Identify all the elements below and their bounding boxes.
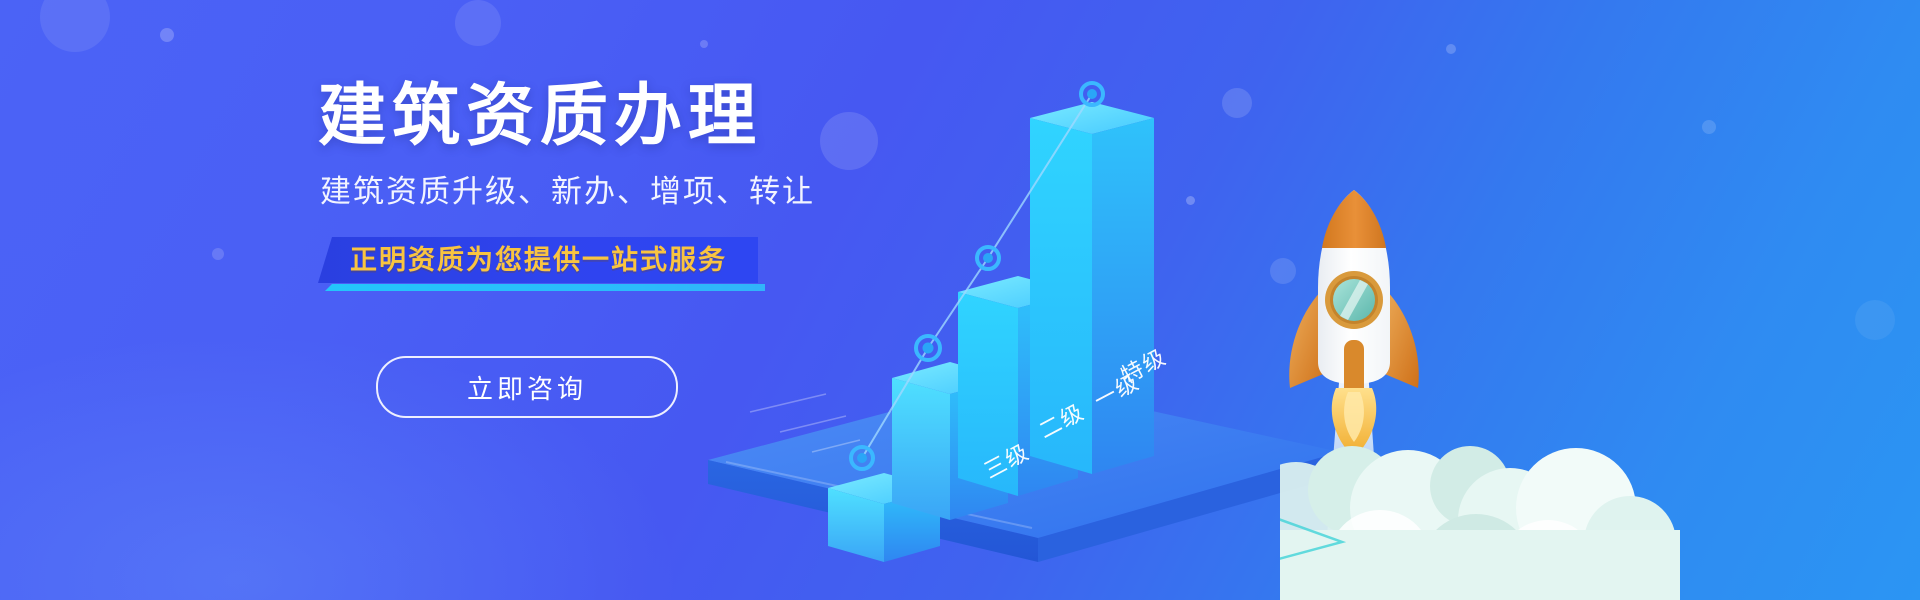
cloud-cluster	[1280, 446, 1680, 600]
deco-circle	[40, 0, 110, 52]
deco-circle	[1446, 44, 1456, 54]
rocket-nose-cone	[1322, 190, 1386, 248]
consult-now-button[interactable]: 立即咨询	[376, 356, 678, 418]
deco-circle	[212, 248, 224, 260]
deco-circle	[160, 28, 174, 42]
background-glow	[0, 300, 740, 600]
deco-circle	[1702, 120, 1716, 134]
deco-circle	[700, 40, 708, 48]
rocket-illustration	[1280, 190, 1920, 600]
hero-banner: 建筑资质办理 建筑资质升级、新办、增项、转让 正明资质为您提供一站式服务 立即咨…	[0, 0, 1920, 600]
isometric-bar-chart	[640, 60, 1360, 600]
deco-circle	[455, 0, 501, 46]
consult-now-label: 立即咨询	[467, 369, 587, 406]
